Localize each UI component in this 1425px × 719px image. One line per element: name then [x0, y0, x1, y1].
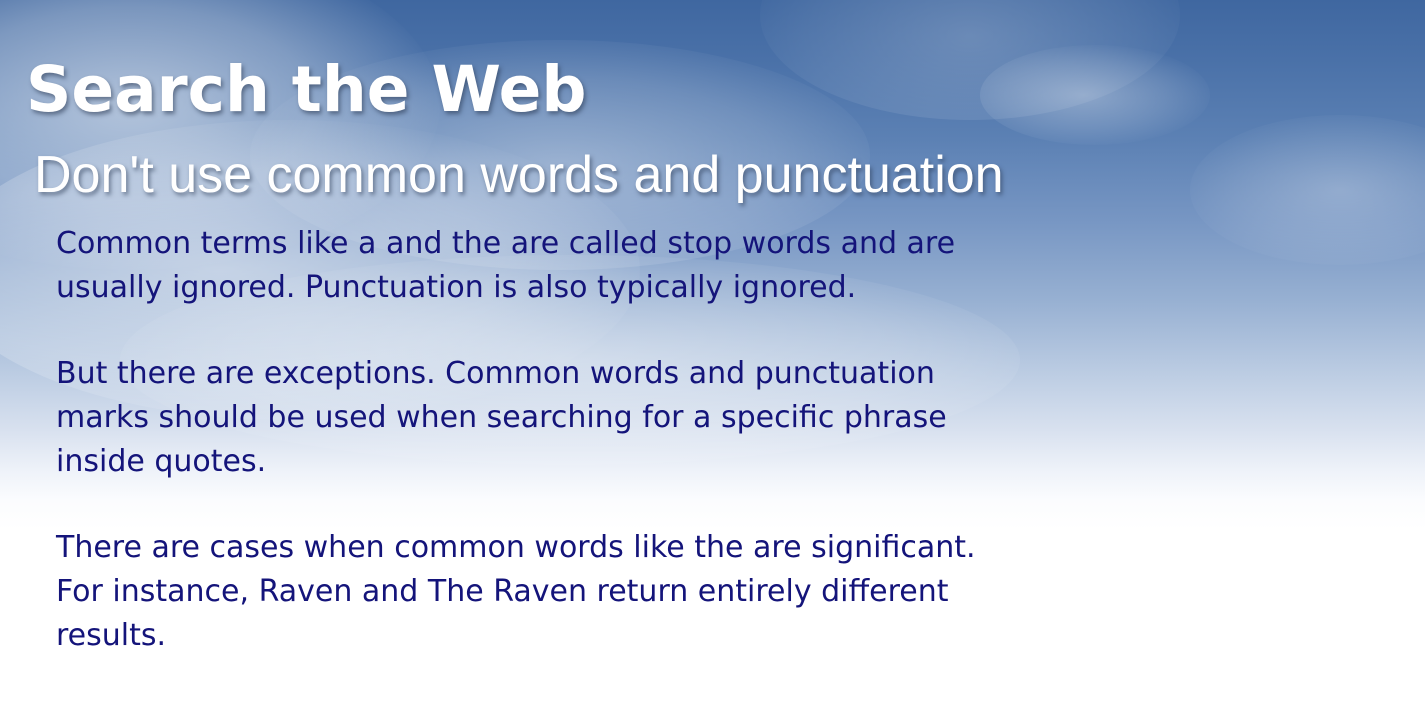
slide-subtitle: Don't use common words and punctuation	[34, 149, 1004, 201]
cloud-icon	[760, 0, 1180, 120]
body-paragraph: There are cases when common words like t…	[56, 526, 1156, 658]
cloud-icon	[980, 45, 1210, 145]
cloud-icon	[1190, 115, 1425, 265]
slide-body: Common terms like a and the are called s…	[56, 222, 1156, 658]
body-paragraph: Common terms like a and the are called s…	[56, 222, 1156, 310]
slide-title: Search the Web	[26, 58, 587, 121]
body-paragraph: But there are exceptions. Common words a…	[56, 352, 1156, 484]
presentation-slide: Search the Web Don't use common words an…	[0, 0, 1425, 719]
